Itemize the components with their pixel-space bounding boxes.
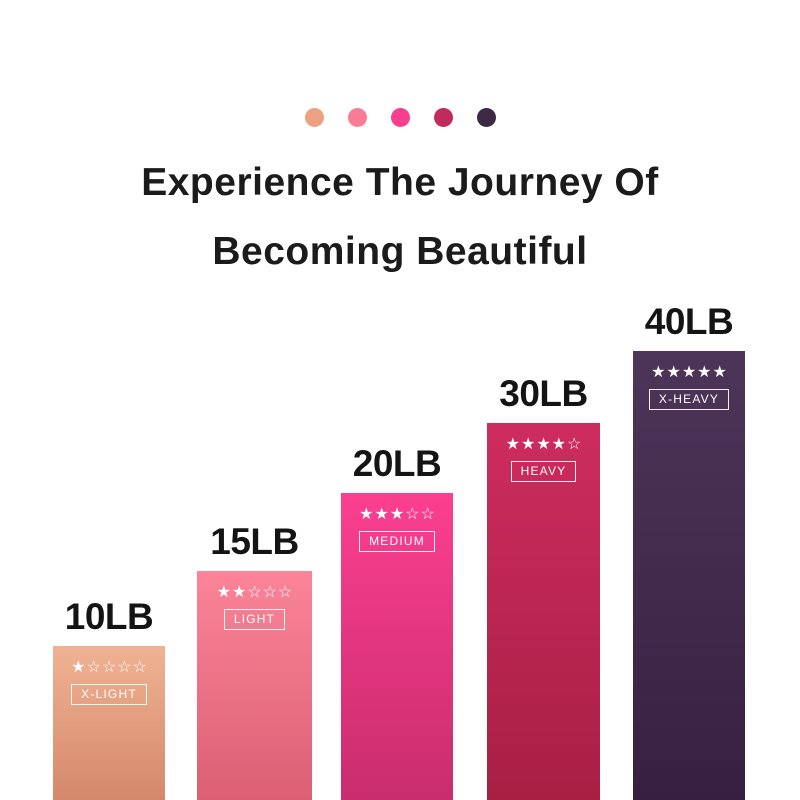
bar-weight-label: 30LB (499, 375, 587, 412)
bar-group-15lb[interactable]: 15LB★★☆☆☆LIGHT (197, 523, 312, 800)
star-filled-icon: ★ (521, 437, 535, 453)
star-rating: ★★★★★ (651, 365, 727, 381)
star-empty-icon: ☆ (263, 585, 277, 601)
star-filled-icon: ★ (651, 365, 665, 381)
bar-group-10lb[interactable]: 10LB★☆☆☆☆X-LIGHT (53, 598, 165, 800)
star-rating: ★★★☆☆ (359, 507, 435, 523)
star-empty-icon: ☆ (86, 660, 100, 676)
star-filled-icon: ★ (390, 507, 404, 523)
star-filled-icon: ★ (232, 585, 246, 601)
bar-group-40lb[interactable]: 40LB★★★★★X-HEAVY (633, 303, 745, 800)
dot-heavy (434, 108, 453, 127)
star-filled-icon: ★ (552, 437, 566, 453)
bar-weight-label: 15LB (210, 523, 298, 560)
bar-weight-label: 20LB (353, 445, 441, 482)
bar-weight-label: 10LB (65, 598, 153, 635)
star-empty-icon: ☆ (421, 507, 435, 523)
color-swatch-row (0, 108, 800, 127)
dot-medium (391, 108, 410, 127)
star-filled-icon: ★ (359, 507, 373, 523)
star-empty-icon: ☆ (405, 507, 419, 523)
page-title-line-2: Becoming Beautiful (0, 217, 800, 286)
bar-weight-label: 40LB (645, 303, 733, 340)
star-filled-icon: ★ (697, 365, 711, 381)
star-empty-icon: ☆ (102, 660, 116, 676)
dot-x-heavy (477, 108, 496, 127)
star-filled-icon: ★ (713, 365, 727, 381)
bar-15lb[interactable]: ★★☆☆☆LIGHT (197, 571, 312, 800)
resistance-level-badge: X-HEAVY (649, 389, 729, 410)
star-empty-icon: ☆ (278, 585, 292, 601)
star-filled-icon: ★ (217, 585, 231, 601)
dot-light (348, 108, 367, 127)
page-title-line-1: Experience The Journey Of (0, 148, 800, 217)
bar-30lb[interactable]: ★★★★☆HEAVY (487, 423, 600, 800)
bar-20lb[interactable]: ★★★☆☆MEDIUM (341, 493, 453, 800)
star-filled-icon: ★ (666, 365, 680, 381)
star-rating: ★★☆☆☆ (217, 585, 293, 601)
resistance-level-badge: HEAVY (511, 461, 577, 482)
resistance-level-badge: MEDIUM (359, 531, 435, 552)
dot-x-light (305, 108, 324, 127)
resistance-level-badge: X-LIGHT (71, 684, 147, 705)
star-empty-icon: ☆ (133, 660, 147, 676)
star-rating: ★☆☆☆☆ (71, 660, 147, 676)
star-filled-icon: ★ (374, 507, 388, 523)
resistance-level-bar-chart: 10LB★☆☆☆☆X-LIGHT15LB★★☆☆☆LIGHT20LB★★★☆☆M… (0, 340, 800, 800)
star-filled-icon: ★ (682, 365, 696, 381)
bar-10lb[interactable]: ★☆☆☆☆X-LIGHT (53, 646, 165, 800)
resistance-level-badge: LIGHT (224, 609, 285, 630)
star-empty-icon: ☆ (117, 660, 131, 676)
star-filled-icon: ★ (71, 660, 85, 676)
page-title: Experience The Journey Of Becoming Beaut… (0, 148, 800, 286)
bar-group-30lb[interactable]: 30LB★★★★☆HEAVY (487, 375, 600, 800)
bar-40lb[interactable]: ★★★★★X-HEAVY (633, 351, 745, 800)
star-empty-icon: ☆ (247, 585, 261, 601)
star-filled-icon: ★ (506, 437, 520, 453)
star-empty-icon: ☆ (567, 437, 581, 453)
star-rating: ★★★★☆ (506, 437, 582, 453)
bar-group-20lb[interactable]: 20LB★★★☆☆MEDIUM (341, 445, 453, 800)
star-filled-icon: ★ (536, 437, 550, 453)
